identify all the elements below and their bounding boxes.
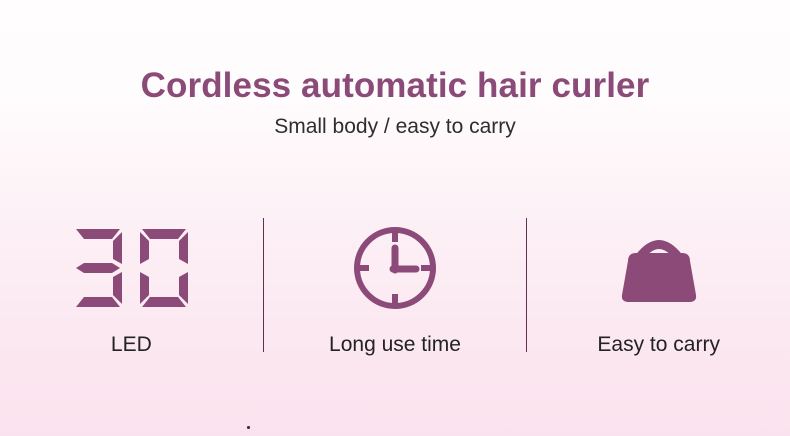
- product-feature-banner: Cordless automatic hair curler Small bod…: [0, 0, 790, 436]
- feature-label-long-use-time: Long use time: [329, 334, 461, 355]
- seven-segment-30-icon: [70, 227, 192, 309]
- image-artifact-speck: [247, 426, 250, 429]
- page-title: Cordless automatic hair curler: [0, 0, 790, 106]
- feature-icon-slot: [616, 218, 702, 318]
- feature-label-led: LED: [111, 334, 152, 355]
- clock-icon: [352, 225, 438, 311]
- feature-list: LED Long use time: [0, 196, 790, 371]
- handbag-icon: [616, 227, 702, 309]
- page-subtitle: Small body / easy to carry: [0, 106, 790, 139]
- feature-icon-slot: [352, 218, 438, 318]
- feature-label-easy-to-carry: Easy to carry: [597, 334, 720, 355]
- feature-item-long-use-time: Long use time: [264, 196, 527, 371]
- seven-segment-digit-0: [136, 227, 192, 309]
- feature-icon-slot: [70, 218, 192, 318]
- seven-segment-digit-3: [70, 227, 126, 309]
- feature-item-easy-to-carry: Easy to carry: [527, 196, 790, 371]
- banner-header: Cordless automatic hair curler Small bod…: [0, 0, 790, 139]
- feature-item-led: LED: [0, 196, 263, 371]
